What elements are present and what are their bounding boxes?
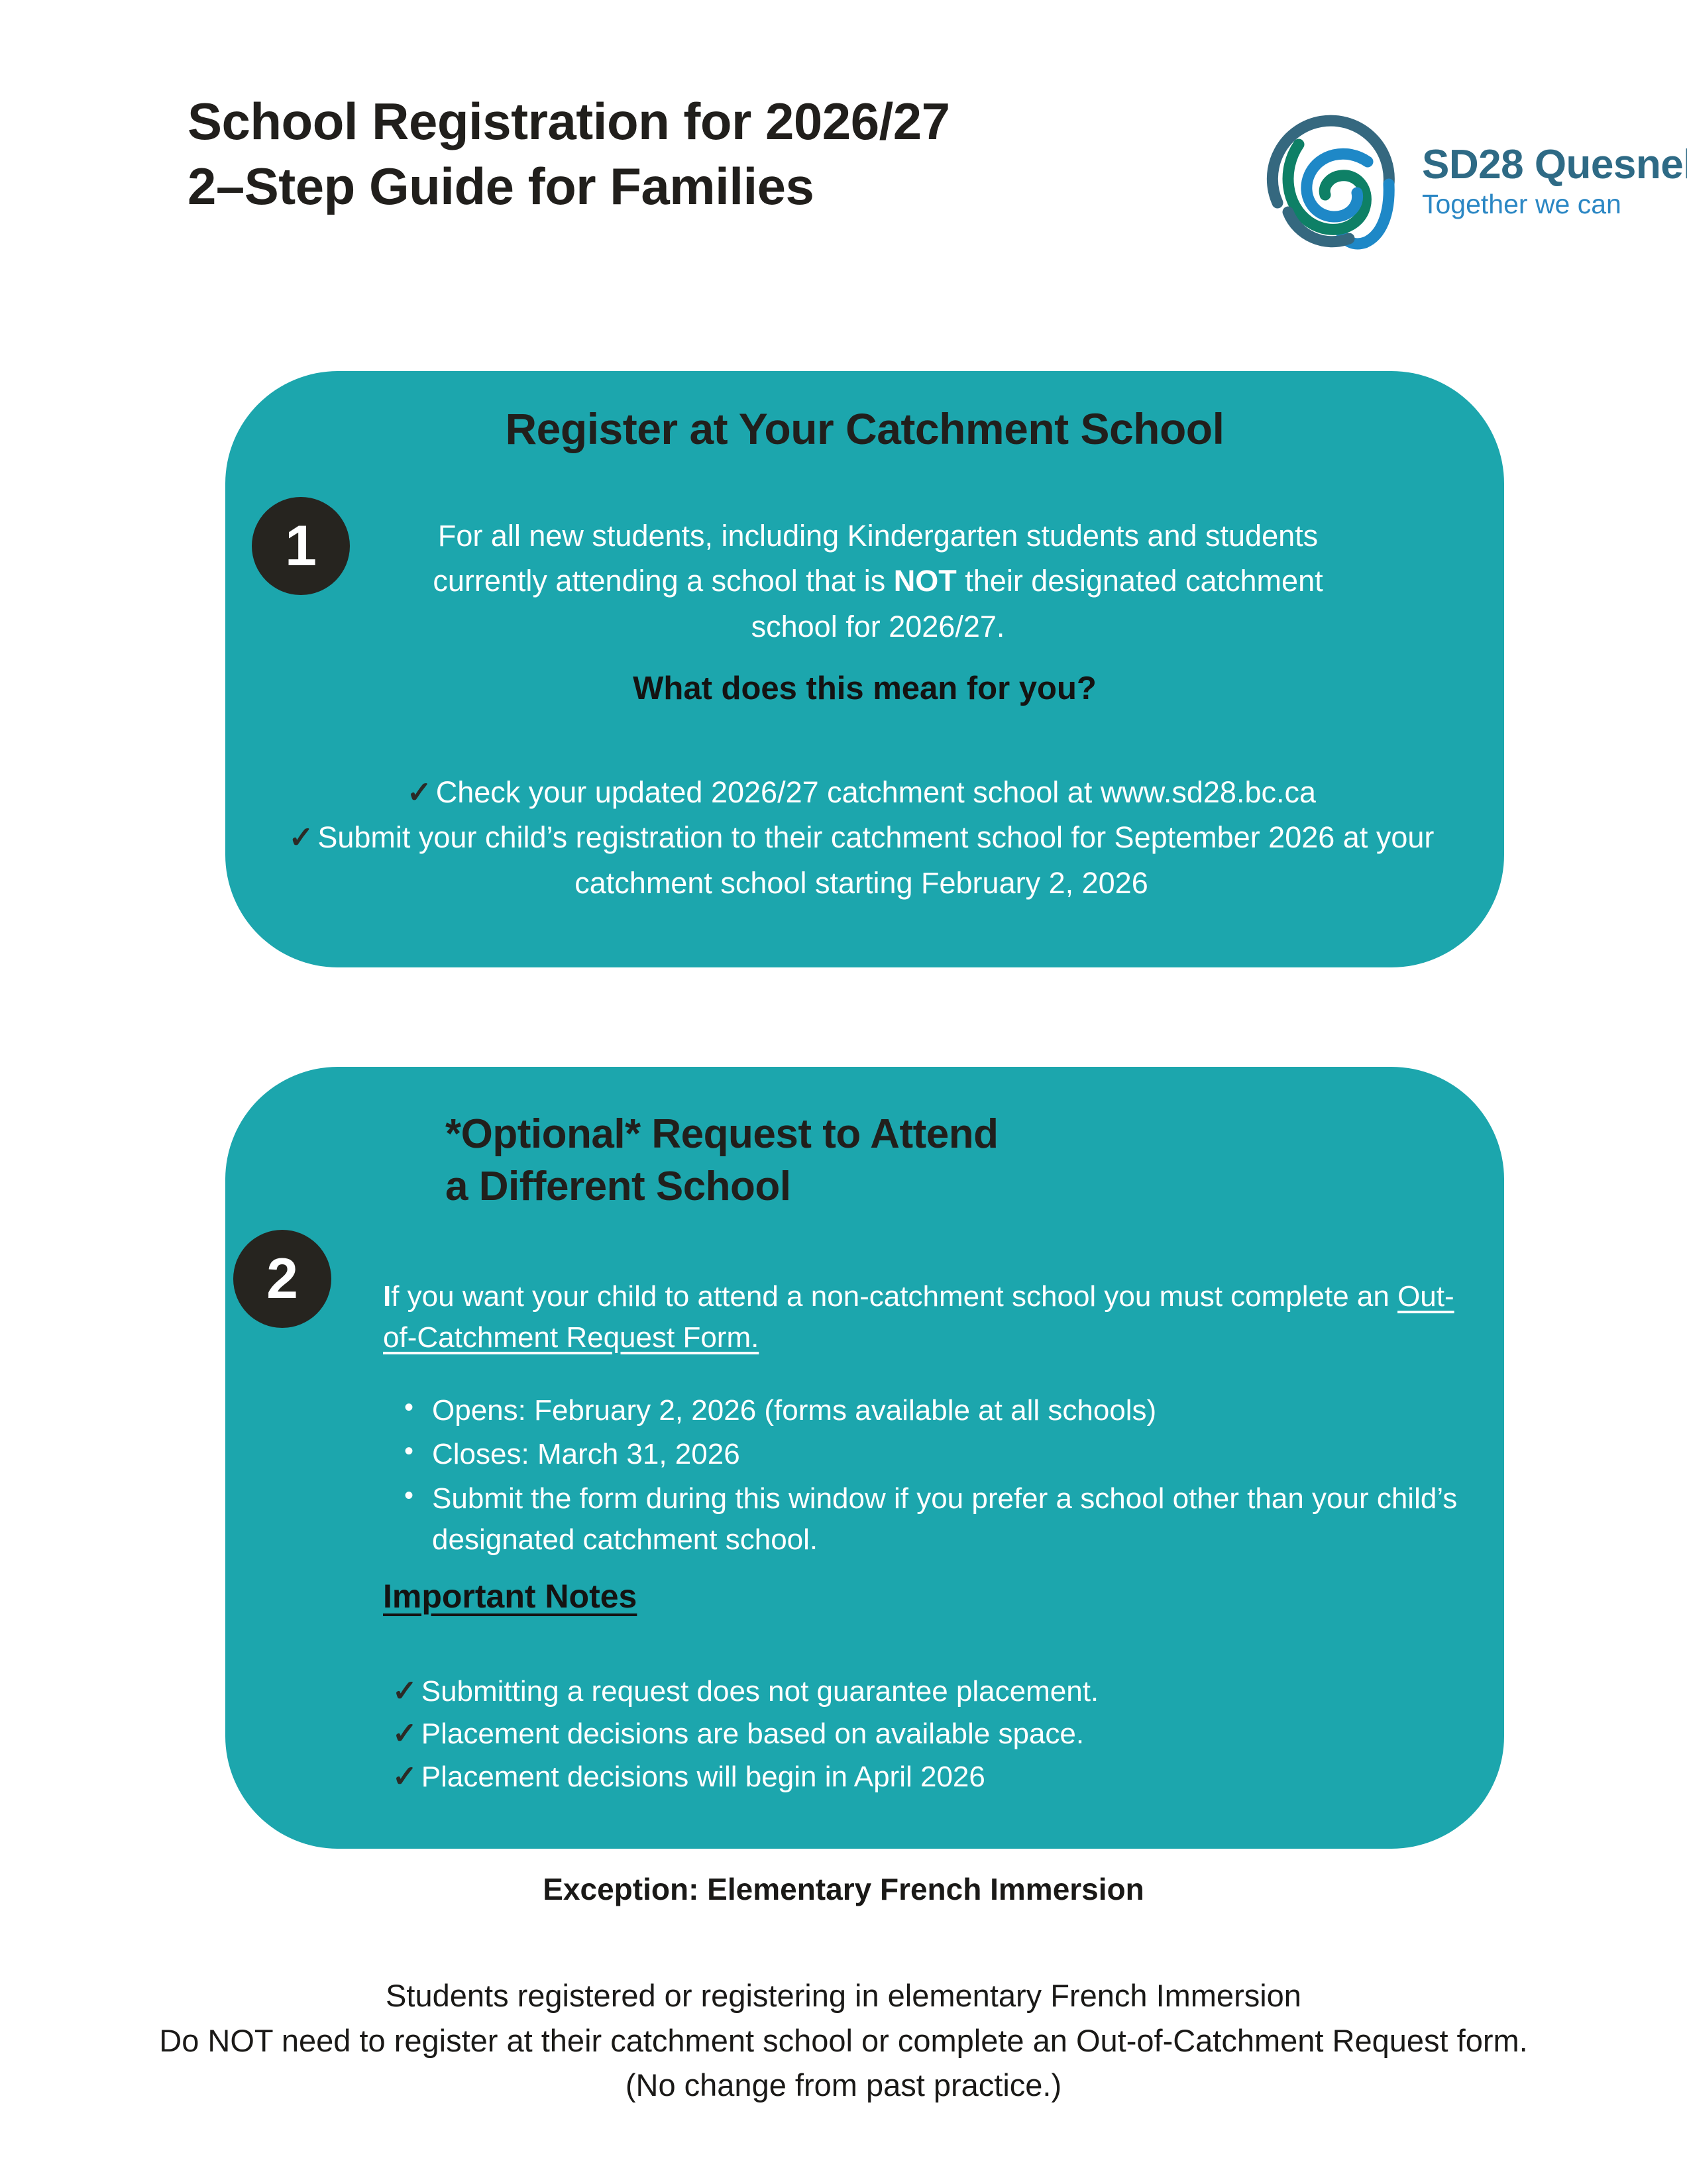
list-item: ✓Submitting a request does not guarantee…	[392, 1670, 1452, 1712]
check-mark-icon: ✓	[392, 1716, 417, 1750]
step-2-intro-lead: I	[383, 1280, 391, 1313]
step-2-heading: *Optional* Request to Attend a Different…	[445, 1108, 1340, 1213]
step-1-intro-bold: NOT	[894, 564, 957, 598]
title-line-1: School Registration for 2026/27	[188, 89, 950, 154]
logo-name: SD28 Quesnel	[1422, 144, 1687, 186]
step-2-note-1: Placement decisions are based on availab…	[421, 1718, 1084, 1750]
list-item: Opens: February 2, 2026 (forms available…	[398, 1390, 1458, 1431]
step-2-heading-line-2: a Different School	[445, 1160, 1340, 1213]
footer-heading: Exception: Elementary French Immersion	[0, 1871, 1687, 1908]
poster-header: School Registration for 2026/27 2–Step G…	[0, 80, 1687, 278]
check-mark-icon: ✓	[289, 820, 314, 854]
check-mark-icon: ✓	[392, 1759, 417, 1793]
important-notes-title: Important Notes	[383, 1577, 637, 1615]
footer-body: Students registered or registering in el…	[0, 1973, 1687, 2108]
step-2-intro: If you want your child to attend a non-c…	[383, 1276, 1456, 1359]
step-2-notes-list: ✓Submitting a request does not guarantee…	[392, 1670, 1452, 1798]
list-item: ✓Placement decisions are based on availa…	[392, 1712, 1452, 1755]
step-2-bullet-2: Submit the form during this window if yo…	[432, 1482, 1457, 1556]
list-item: Closes: March 31, 2026	[398, 1434, 1458, 1475]
step-1-heading: Register at Your Catchment School	[225, 404, 1504, 455]
sd28-spiral-logo-icon	[1259, 106, 1411, 258]
title-line-2: 2–Step Guide for Families	[188, 154, 950, 219]
step-2-intro-text: f you want your child to attend a non-ca…	[391, 1280, 1397, 1313]
list-item: Submit the form during this window if yo…	[398, 1478, 1458, 1561]
list-item: ✓Check your updated 2026/27 catchment sc…	[265, 770, 1458, 815]
step-1-check-1: Submit your child’s registration to thei…	[317, 820, 1434, 899]
list-item: ✓Placement decisions will begin in April…	[392, 1755, 1452, 1798]
step-2-heading-line-1: *Optional* Request to Attend	[445, 1108, 1340, 1160]
step-1-check-list: ✓Check your updated 2026/27 catchment sc…	[265, 770, 1458, 906]
logo-wordmark: SD28 Quesnel Together we can	[1422, 144, 1687, 221]
step-1-check-0: Check your updated 2026/27 catchment sch…	[436, 775, 1316, 809]
step-2-bullet-1: Closes: March 31, 2026	[432, 1438, 740, 1470]
footer-line-3: (No change from past practice.)	[0, 2063, 1687, 2108]
step-1-number: 1	[285, 518, 317, 574]
check-mark-icon: ✓	[392, 1674, 417, 1708]
footer-line-2: Do NOT need to register at their catchme…	[0, 2018, 1687, 2063]
step-2-note-0: Submitting a request does not guarantee …	[421, 1675, 1099, 1708]
step-2-note-2: Placement decisions will begin in April …	[421, 1761, 985, 1793]
step-2-bullet-0: Opens: February 2, 2026 (forms available…	[432, 1394, 1156, 1427]
poster-page: School Registration for 2026/27 2–Step G…	[0, 0, 1687, 2184]
step-1-intro: For all new students, including Kinderga…	[398, 514, 1358, 649]
check-mark-icon: ✓	[407, 775, 432, 809]
footer-line-1: Students registered or registering in el…	[0, 1973, 1687, 2018]
page-title: School Registration for 2026/27 2–Step G…	[188, 89, 950, 219]
step-2-bullet-list: Opens: February 2, 2026 (forms available…	[398, 1390, 1458, 1564]
step-1-number-badge: 1	[252, 497, 350, 595]
step-2-number: 2	[266, 1250, 298, 1307]
step-1-subheading: What does this mean for you?	[225, 669, 1504, 708]
step-2-number-badge: 2	[233, 1230, 331, 1328]
sd28-logo: SD28 Quesnel Together we can	[1259, 96, 1637, 268]
list-item: ✓Submit your child’s registration to the…	[265, 815, 1458, 906]
logo-tagline: Together we can	[1422, 188, 1687, 221]
